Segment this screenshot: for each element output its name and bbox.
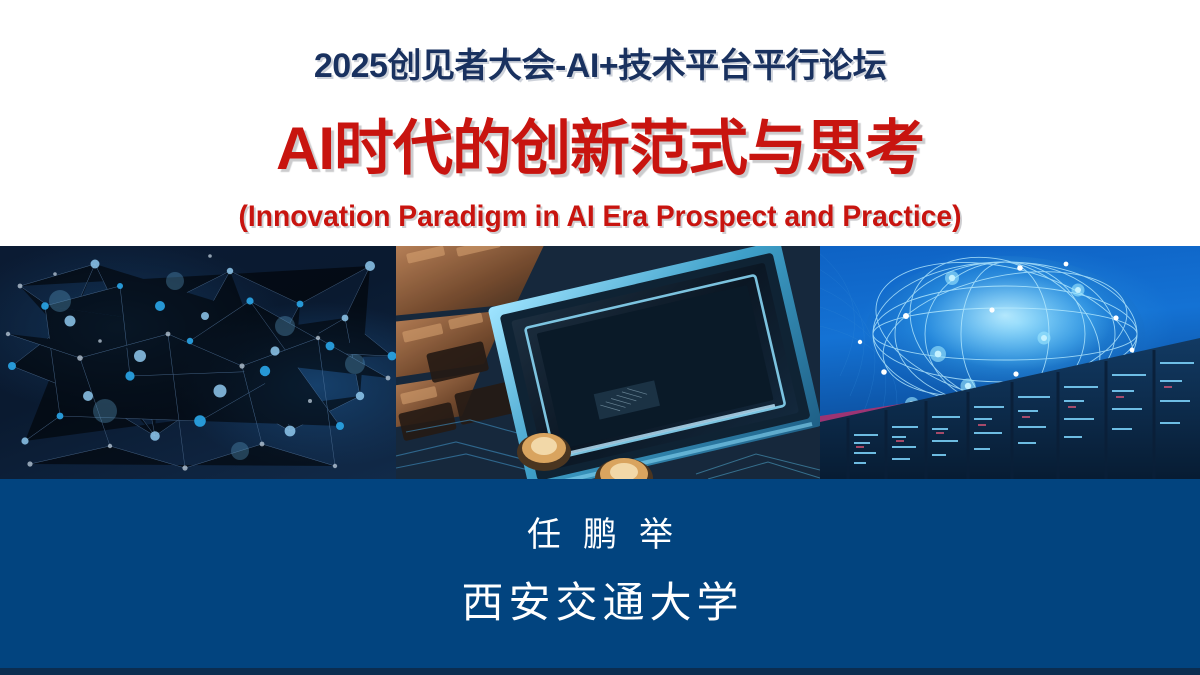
page-title: AI时代的创新范式与思考 bbox=[0, 117, 1200, 180]
network-graph-icon bbox=[0, 246, 396, 479]
server-globe-icon bbox=[820, 246, 1200, 479]
bottom-rule bbox=[0, 668, 1200, 675]
presentation-slide: 2025创见者大会-AI+技术平台平行论坛 AI时代的创新范式与思考 (Inno… bbox=[0, 0, 1200, 675]
processor-chip-image bbox=[396, 246, 820, 479]
chip-icon bbox=[396, 246, 820, 479]
english-subtitle: (Innovation Paradigm in AI Era Prospect … bbox=[36, 200, 1164, 234]
title-block: 2025创见者大会-AI+技术平台平行论坛 AI时代的创新范式与思考 (Inno… bbox=[0, 0, 1200, 246]
speaker-block: 任鹏举 西安交通大学 bbox=[0, 479, 1200, 668]
event-header: 2025创见者大会-AI+技术平台平行论坛 bbox=[0, 38, 1200, 87]
speaker-name: 任鹏举 bbox=[0, 507, 1200, 556]
data-center-image bbox=[820, 246, 1200, 479]
image-band bbox=[0, 246, 1200, 479]
affiliation: 西安交通大学 bbox=[0, 569, 1200, 630]
network-graph-image bbox=[0, 246, 396, 479]
